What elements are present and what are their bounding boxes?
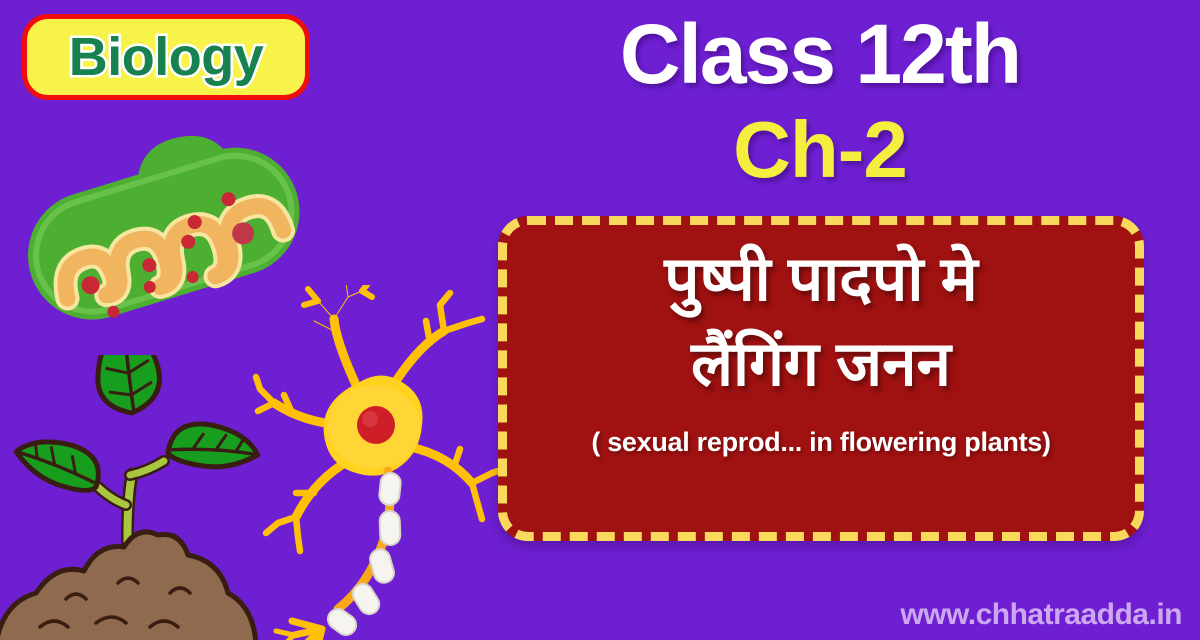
- neuron-icon: [252, 285, 512, 640]
- subject-badge-label: Biology: [69, 30, 264, 84]
- thumbnail-canvas: Biology Class 12th Ch-2 पुष्पी पादपो मे …: [0, 0, 1200, 640]
- seedling-icon: [0, 355, 290, 640]
- class-heading: Class 12th: [500, 12, 1140, 96]
- chapter-heading: Ch-2: [500, 110, 1140, 190]
- topic-title-hindi-line-1: पुष्पी पादपो मे: [529, 243, 1113, 316]
- subject-badge: Biology: [22, 14, 310, 100]
- topic-subtitle-english: ( sexual reprod... in flowering plants): [529, 427, 1113, 458]
- website-url: www.chhatraadda.in: [900, 598, 1182, 632]
- topic-title-hindi-line-2: लैंगिंग जनन: [529, 328, 1113, 401]
- topic-card: पुष्पी पादपो मे लैंगिंग जनन ( sexual rep…: [498, 216, 1144, 541]
